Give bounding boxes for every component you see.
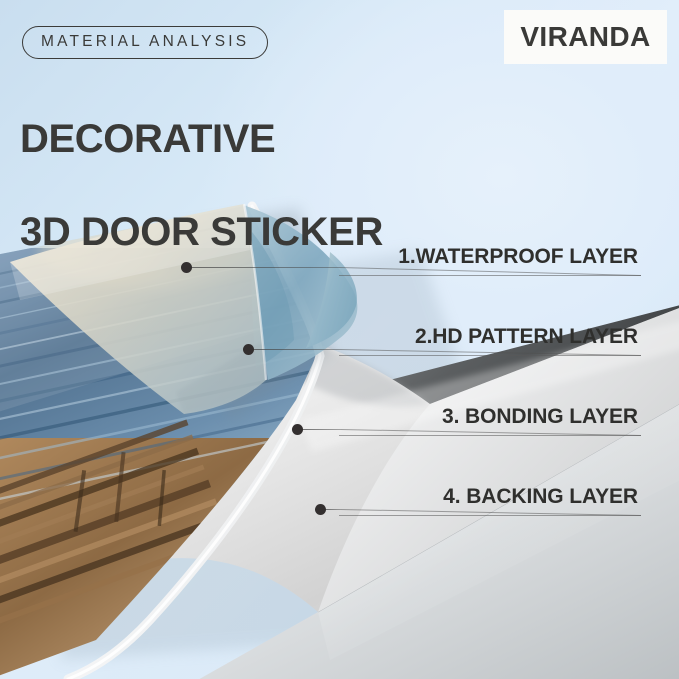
callout-dot-4 bbox=[315, 504, 326, 515]
callout-rule-4 bbox=[339, 515, 641, 516]
callout-label-2: 2.HD PATTERN LAYER bbox=[415, 326, 638, 347]
page-title-line1: DECORATIVE bbox=[20, 116, 383, 162]
callout-label-4: 4. BACKING LAYER bbox=[443, 486, 638, 507]
callout-label-1: 1.WATERPROOF LAYER bbox=[398, 246, 638, 267]
callout-leader-3 bbox=[301, 429, 341, 430]
callout-dot-1 bbox=[181, 262, 192, 273]
page-title-line2: 3D DOOR STICKER bbox=[20, 209, 383, 255]
callout-rule-1 bbox=[339, 275, 641, 276]
poster-canvas: MATERIAL ANALYSIS DECORATIVE 3D DOOR STI… bbox=[0, 0, 679, 679]
callout-leader-1 bbox=[190, 267, 340, 268]
callout-leader-4 bbox=[324, 509, 341, 510]
material-analysis-badge: MATERIAL ANALYSIS bbox=[22, 26, 268, 59]
callout-dot-3 bbox=[292, 424, 303, 435]
callout-dot-2 bbox=[243, 344, 254, 355]
callout-leader-2 bbox=[252, 349, 340, 350]
callout-rule-3 bbox=[339, 435, 641, 436]
brand-name: VIRANDA bbox=[520, 23, 650, 51]
callout-rule-2 bbox=[339, 355, 641, 356]
callout-label-3: 3. BONDING LAYER bbox=[442, 406, 638, 427]
brand-logo-box: VIRANDA bbox=[504, 10, 667, 64]
